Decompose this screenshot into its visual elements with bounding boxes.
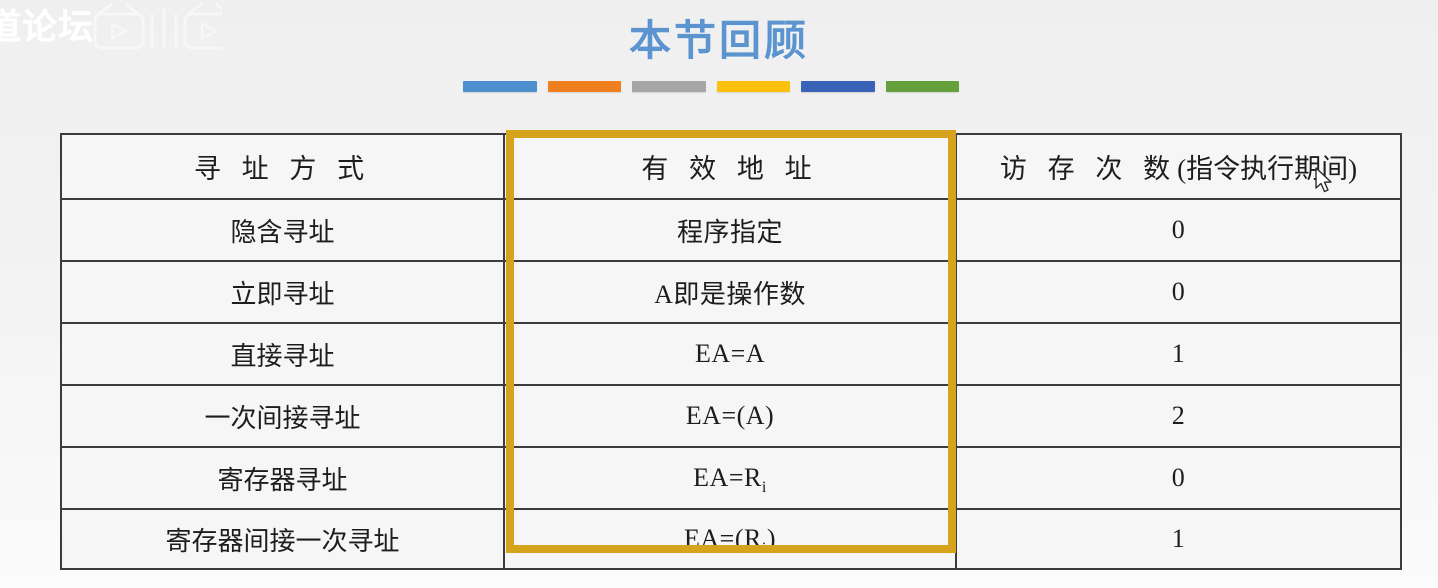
accent-bar-group xyxy=(463,81,959,92)
ea-tail: ) xyxy=(767,524,776,553)
ea-base: EA=(R xyxy=(684,524,762,553)
table-row: 一次间接寻址 EA=(A) 2 xyxy=(61,385,1401,447)
cell-effective-address: 程序指定 xyxy=(504,199,956,261)
cell-accesses: 0 xyxy=(956,199,1401,261)
header-effective-address: 有 效 地 址 xyxy=(504,134,956,199)
cell-effective-address: EA=Ri xyxy=(504,447,956,509)
table-row: 立即寻址 A即是操作数 0 xyxy=(61,261,1401,323)
cell-effective-address: EA=(Ri) xyxy=(504,509,956,569)
bar-blue-light xyxy=(463,81,537,92)
cell-mode: 一次间接寻址 xyxy=(61,385,504,447)
table-row: 直接寻址 EA=A 1 xyxy=(61,323,1401,385)
slide-canvas: 道论坛 本节回顾 xyxy=(0,0,1438,588)
cell-accesses: 0 xyxy=(956,447,1401,509)
header-memory-accesses-suffix: (指令执行期间) xyxy=(1177,154,1357,184)
cell-accesses: 0 xyxy=(956,261,1401,323)
cell-mode: 立即寻址 xyxy=(61,261,504,323)
table-row: 寄存器寻址 EA=Ri 0 xyxy=(61,447,1401,509)
cell-accesses: 2 xyxy=(956,385,1401,447)
cell-mode: 直接寻址 xyxy=(61,323,504,385)
table-row: 隐含寻址 程序指定 0 xyxy=(61,199,1401,261)
table-header-row: 寻 址 方 式 有 效 地 址 访 存 次 数(指令执行期间) xyxy=(61,134,1401,199)
ea-base: EA=R xyxy=(693,463,762,492)
addressing-modes-table: 寻 址 方 式 有 效 地 址 访 存 次 数(指令执行期间) 隐含寻址 程序指… xyxy=(60,133,1402,570)
page-title: 本节回顾 xyxy=(0,7,1438,68)
cell-accesses: 1 xyxy=(956,509,1401,569)
bar-yellow xyxy=(717,81,791,92)
cell-effective-address: EA=(A) xyxy=(504,385,956,447)
bar-green xyxy=(886,81,960,92)
table-row: 寄存器间接一次寻址 EA=(Ri) 1 xyxy=(61,509,1401,569)
bar-blue-dark xyxy=(801,81,875,92)
cell-effective-address: EA=A xyxy=(504,323,956,385)
cell-mode: 隐含寻址 xyxy=(61,199,504,261)
cell-mode: 寄存器间接一次寻址 xyxy=(61,509,504,569)
cell-accesses: 1 xyxy=(956,323,1401,385)
cell-effective-address: A即是操作数 xyxy=(504,261,956,323)
cell-mode: 寄存器寻址 xyxy=(61,447,504,509)
header-memory-accesses-main: 访 存 次 数 xyxy=(1000,154,1177,184)
header-addressing-mode: 寻 址 方 式 xyxy=(61,134,504,199)
bar-gray xyxy=(632,81,706,92)
ea-subscript: i xyxy=(762,479,767,496)
bar-orange xyxy=(548,81,622,92)
header-memory-accesses: 访 存 次 数(指令执行期间) xyxy=(956,134,1401,199)
